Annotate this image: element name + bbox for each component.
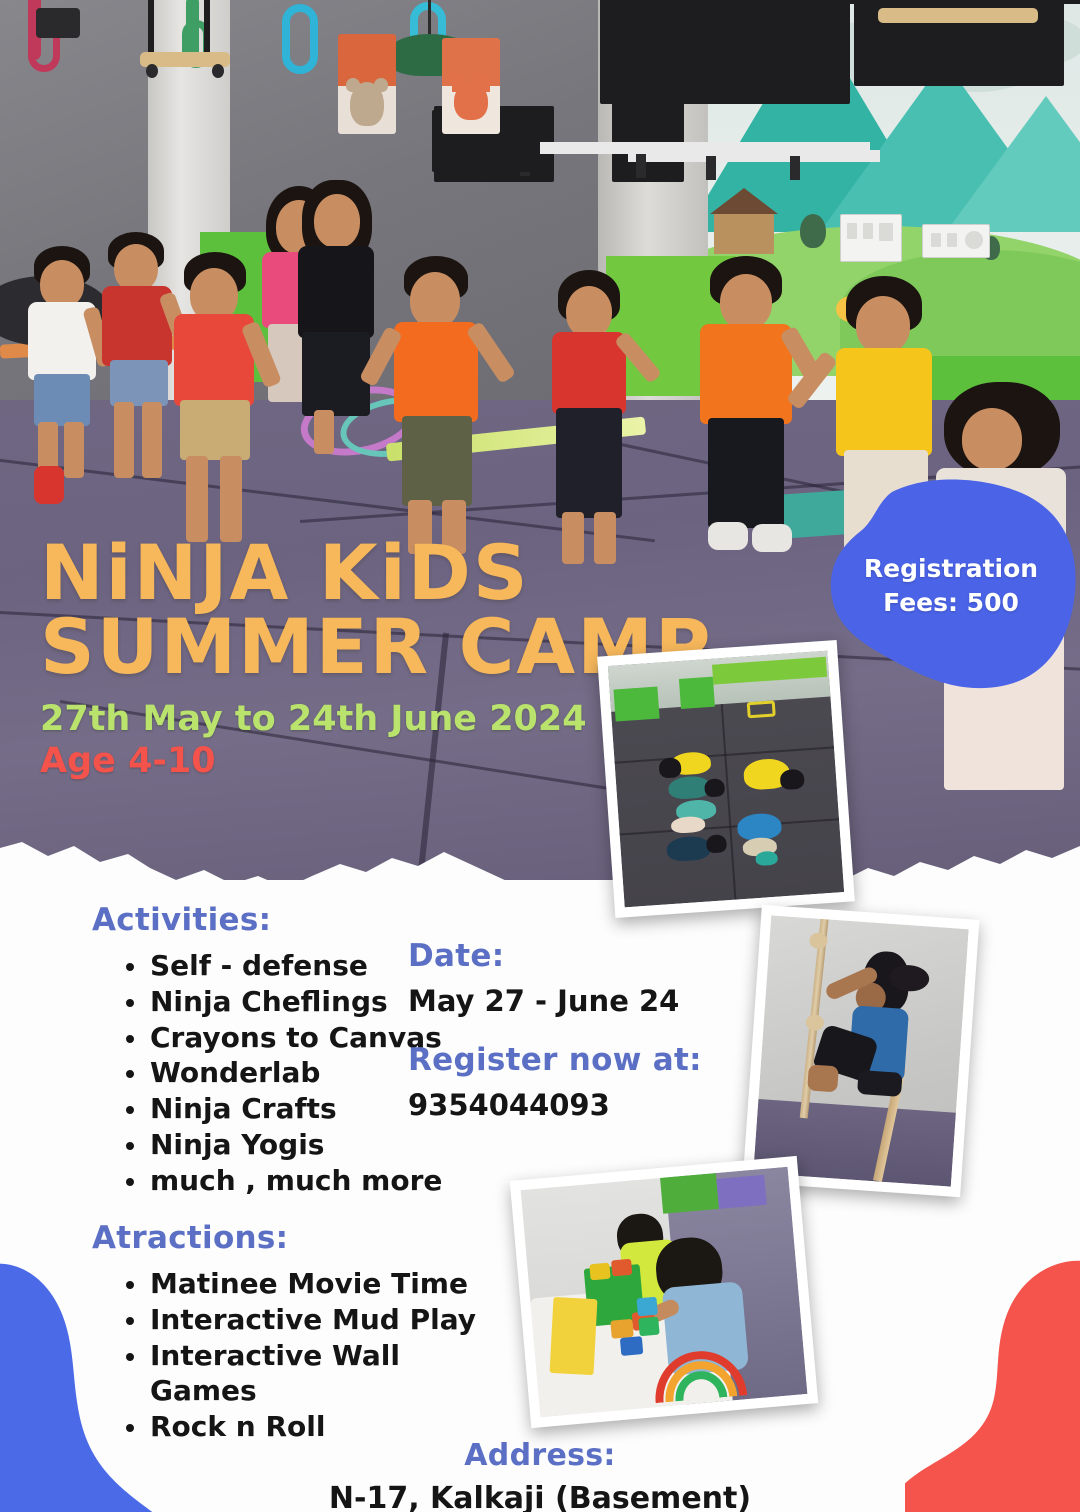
- atractions-block: Atractions: Matinee Movie Time Interacti…: [92, 1220, 492, 1445]
- wall-socket-plate: [922, 224, 990, 258]
- list-item: Wonderlab: [120, 1055, 452, 1091]
- list-item: Crayons to Canvas: [120, 1020, 452, 1056]
- equipment-shelf-upper: [628, 150, 880, 162]
- list-item: Ninja Crafts: [120, 1091, 452, 1127]
- photo-card-rope-climb: [743, 905, 980, 1198]
- ceiling-wood-bar: [878, 8, 1038, 23]
- wall-switch-plate: [840, 214, 902, 262]
- bear-poster: [338, 34, 396, 134]
- photo-card-yoga: [597, 640, 855, 918]
- registration-fees-text: Registration Fees: 500: [822, 552, 1080, 620]
- register-phone[interactable]: 9354044093: [408, 1088, 728, 1122]
- registration-fees-line-1: Registration: [822, 552, 1080, 586]
- date-block: Date: May 27 - June 24: [408, 938, 708, 1018]
- activities-block: Activities: Self - defense Ninja Cheflin…: [92, 902, 452, 1199]
- list-item: Interactive Mud Play: [120, 1302, 492, 1338]
- wall-mount-bracket: [36, 8, 80, 38]
- register-heading: Register now at:: [408, 1042, 728, 1078]
- registration-fees-badge: Registration Fees: 500: [822, 478, 1080, 690]
- title-line-1: NiNJA KiDS: [40, 536, 713, 610]
- list-item: Ninja Yogis: [120, 1127, 452, 1163]
- ceiling-rail: [608, 0, 1080, 4]
- address-value: N-17, Kalkaji (Basement): [0, 1481, 1080, 1512]
- fox-poster: [442, 38, 500, 134]
- date-heading: Date:: [408, 938, 708, 974]
- torn-paper-edge: [0, 806, 1080, 880]
- tv-screen: [600, 0, 850, 104]
- list-item: Self - defense: [120, 948, 452, 984]
- list-item: Matinee Movie Time: [120, 1266, 492, 1302]
- address-block: Address: N-17, Kalkaji (Basement): [0, 1438, 1080, 1512]
- activities-heading: Activities:: [92, 902, 452, 938]
- registration-fees-line-2: Fees: 500: [822, 586, 1080, 620]
- atractions-list: Matinee Movie Time Interactive Mud Play …: [120, 1266, 492, 1445]
- pendant-cord: [428, 0, 431, 36]
- list-item: much , much more: [120, 1163, 452, 1199]
- poster-root: NiNJA KiDS SUMMER CAMP 27th May to 24th …: [0, 0, 1080, 1512]
- atractions-heading: Atractions:: [92, 1220, 492, 1256]
- activities-list: Self - defense Ninja Cheflings Crayons t…: [120, 948, 452, 1199]
- address-heading: Address:: [0, 1438, 1080, 1473]
- register-block: Register now at: 9354044093: [408, 1042, 728, 1122]
- photo-card-blocks: [510, 1156, 819, 1428]
- list-item: Ninja Cheflings: [120, 984, 452, 1020]
- list-item: Interactive Wall Games: [120, 1338, 492, 1410]
- blue-strap-loop: [282, 4, 318, 74]
- date-value: May 27 - June 24: [408, 984, 708, 1018]
